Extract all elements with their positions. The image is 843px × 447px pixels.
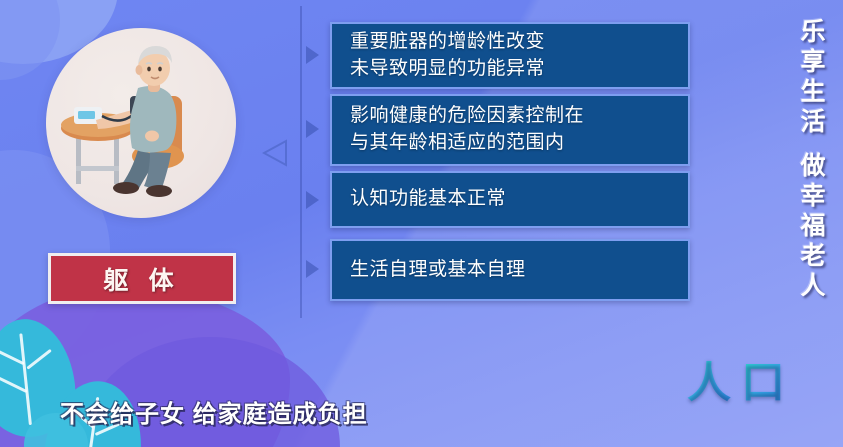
category-label-body: 躯 体 xyxy=(48,253,236,304)
slogan-column-1: 乐享生活 xyxy=(792,18,828,138)
logo-char-ren: 人 xyxy=(687,361,731,405)
triangle-right-icon-2 xyxy=(306,120,319,138)
content-box-3[interactable]: 认知功能基本正常 xyxy=(330,171,690,228)
content-box-2[interactable]: 影响健康的危险因素控制在 与其年龄相适应的范围内 xyxy=(330,94,690,166)
content-box-4[interactable]: 生活自理或基本自理 xyxy=(330,239,690,301)
triangle-right-icon-1 xyxy=(306,46,319,64)
content-box-1-text: 重要脏器的增龄性改变 未导致明显的功能异常 xyxy=(332,29,545,83)
channel-logo: 人 口 xyxy=(687,361,785,405)
content-box-4-text: 生活自理或基本自理 xyxy=(332,257,526,284)
program-slogan: 乐享生活 做幸福老人 xyxy=(789,18,831,302)
connector-line xyxy=(300,6,302,318)
elderly-blood-pressure-illustration-icon xyxy=(46,28,236,218)
content-box-2-text: 影响健康的危险因素控制在 与其年龄相适应的范围内 xyxy=(332,103,584,157)
triangle-left-outline-icon xyxy=(262,138,288,168)
logo-char-kou: 口 xyxy=(741,361,785,405)
subtitle-caption: 不会给子女 给家庭造成负担 xyxy=(60,394,368,429)
content-box-1[interactable]: 重要脏器的增龄性改变 未导致明显的功能异常 xyxy=(330,22,690,89)
slogan-column-2: 做幸福老人 xyxy=(792,152,828,302)
triangle-right-icon-3 xyxy=(306,191,319,209)
broadcast-slide: 躯 体 重要脏器的增龄性改变 未导致明显的功能异常 影响健康的危险因素控制在 与… xyxy=(0,0,843,447)
illustration xyxy=(46,28,236,218)
category-label-text: 躯 体 xyxy=(103,261,180,297)
triangle-right-icon-4 xyxy=(306,260,319,278)
content-box-3-text: 认知功能基本正常 xyxy=(332,186,506,213)
